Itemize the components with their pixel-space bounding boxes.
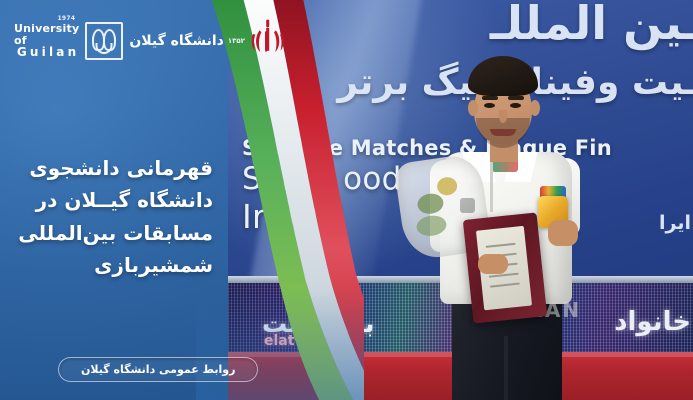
athlete-brow-left (482, 96, 498, 100)
bouquet-flower (416, 192, 445, 215)
athlete-ear-right (530, 100, 540, 116)
logo-persian-name: دانشگاه گیلان (129, 33, 223, 49)
public-relations-badge: روابط عمومی دانشگاه گیلان (58, 357, 258, 382)
guilan-crane-emblem-icon (85, 22, 123, 60)
athlete-left-hand (478, 254, 508, 274)
headline-line-4: شمشیربازی (13, 249, 213, 281)
backdrop-persian-line1: ـین المللـ (490, 0, 693, 50)
athlete-nose (499, 110, 507, 123)
athlete-ear-left (468, 100, 478, 116)
iran-flag-ribbon (196, 0, 364, 400)
athlete-placket (490, 160, 493, 212)
university-of-guilan-logo[interactable]: 1974 University of Guilan ۱۳۵۲ دانشگاه گ… (14, 18, 189, 64)
headline-line-3: مسابقات بین‌المللی (13, 217, 213, 249)
logo-year-persian: ۱۳۵۲ (228, 37, 245, 45)
athlete-eye-right (510, 103, 521, 108)
bouquet-flower (415, 214, 447, 238)
athlete-brow-right (508, 96, 524, 100)
logo-english-text: 1974 University of Guilan (14, 23, 79, 58)
plaque-text-line (490, 283, 520, 288)
athlete-eye-left (484, 103, 495, 108)
banner-canvas: ـین المللـ ـیت وفینال لیگ برتر Satellite… (0, 0, 693, 400)
bouquet-flower (436, 176, 458, 197)
plaque-text-line (486, 243, 516, 248)
logo-english-line1: University of (14, 23, 79, 46)
athlete-right-hand (548, 220, 578, 246)
backdrop-persian-right: ایرا (659, 212, 691, 234)
logo-persian-text: ۱۳۵۲ دانشگاه گیلان (129, 33, 245, 49)
page-title: قهرمانی دانشجوی دانشگاه گیــلان در مسابق… (13, 152, 213, 282)
athlete-hair (468, 56, 538, 96)
athlete-mouth (490, 129, 516, 136)
led-text-right: خانواد (614, 307, 691, 337)
headline-line-1: قهرمانی دانشجوی (13, 152, 213, 184)
logo-year-latin: 1974 (57, 16, 75, 22)
athlete-figure: IRAN (416, 48, 606, 400)
headline-line-2: دانشگاه گیــلان در (13, 184, 213, 216)
logo-english-line2: Guilan (17, 46, 79, 58)
